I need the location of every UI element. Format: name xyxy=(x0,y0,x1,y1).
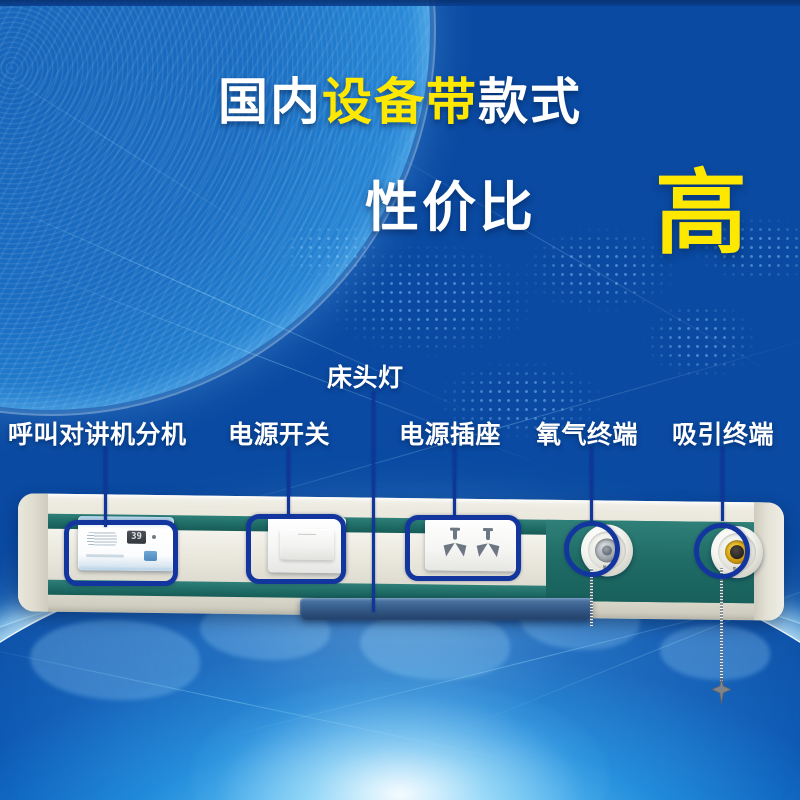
callout-bed-lamp: 床头灯 xyxy=(327,358,404,394)
callout-power-switch: 电源开关 xyxy=(228,415,330,451)
callout-labels: 床头灯 呼叫对讲机分机 电源开关 电源插座 氧气终端 吸引终端 xyxy=(0,0,800,800)
callout-power-socket: 电源插座 xyxy=(399,415,501,451)
callout-suction-terminal: 吸引终端 xyxy=(672,415,774,451)
callout-oxygen-terminal: 氧气终端 xyxy=(536,415,638,451)
callout-intercom: 呼叫对讲机分机 xyxy=(8,415,187,451)
